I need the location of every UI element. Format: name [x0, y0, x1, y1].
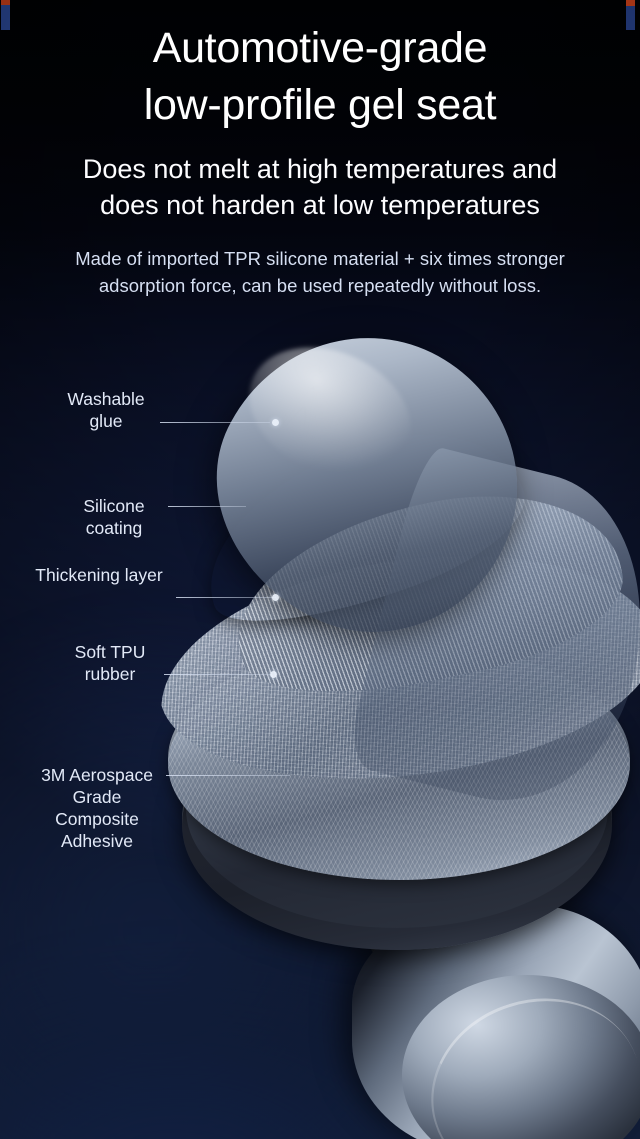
leader-line-thickening-layer [176, 597, 276, 598]
callout-group: Washable glue Silicone coating Thickenin… [0, 0, 640, 1139]
callout-label-silicone-coating: Silicone coating [44, 495, 184, 539]
leader-dot-thickening-layer [272, 594, 279, 601]
callout-label-thickening-layer: Thickening layer [14, 564, 184, 586]
leader-line-silicone-coating [168, 506, 246, 507]
leader-line-3m-adhesive [166, 775, 290, 776]
leader-line-soft-tpu-rubber [164, 674, 270, 675]
callout-label-3m-adhesive: 3M Aerospace Grade Composite Adhesive [12, 764, 182, 852]
leader-line-washable-glue [160, 422, 270, 423]
callout-label-soft-tpu-rubber: Soft TPU rubber [40, 641, 180, 685]
leader-dot-washable-glue [272, 419, 279, 426]
callout-label-washable-glue: Washable glue [36, 388, 176, 432]
leader-dot-soft-tpu-rubber [270, 671, 277, 678]
product-feature-page: Automotive-grade low-profile gel seat Do… [0, 0, 640, 1139]
